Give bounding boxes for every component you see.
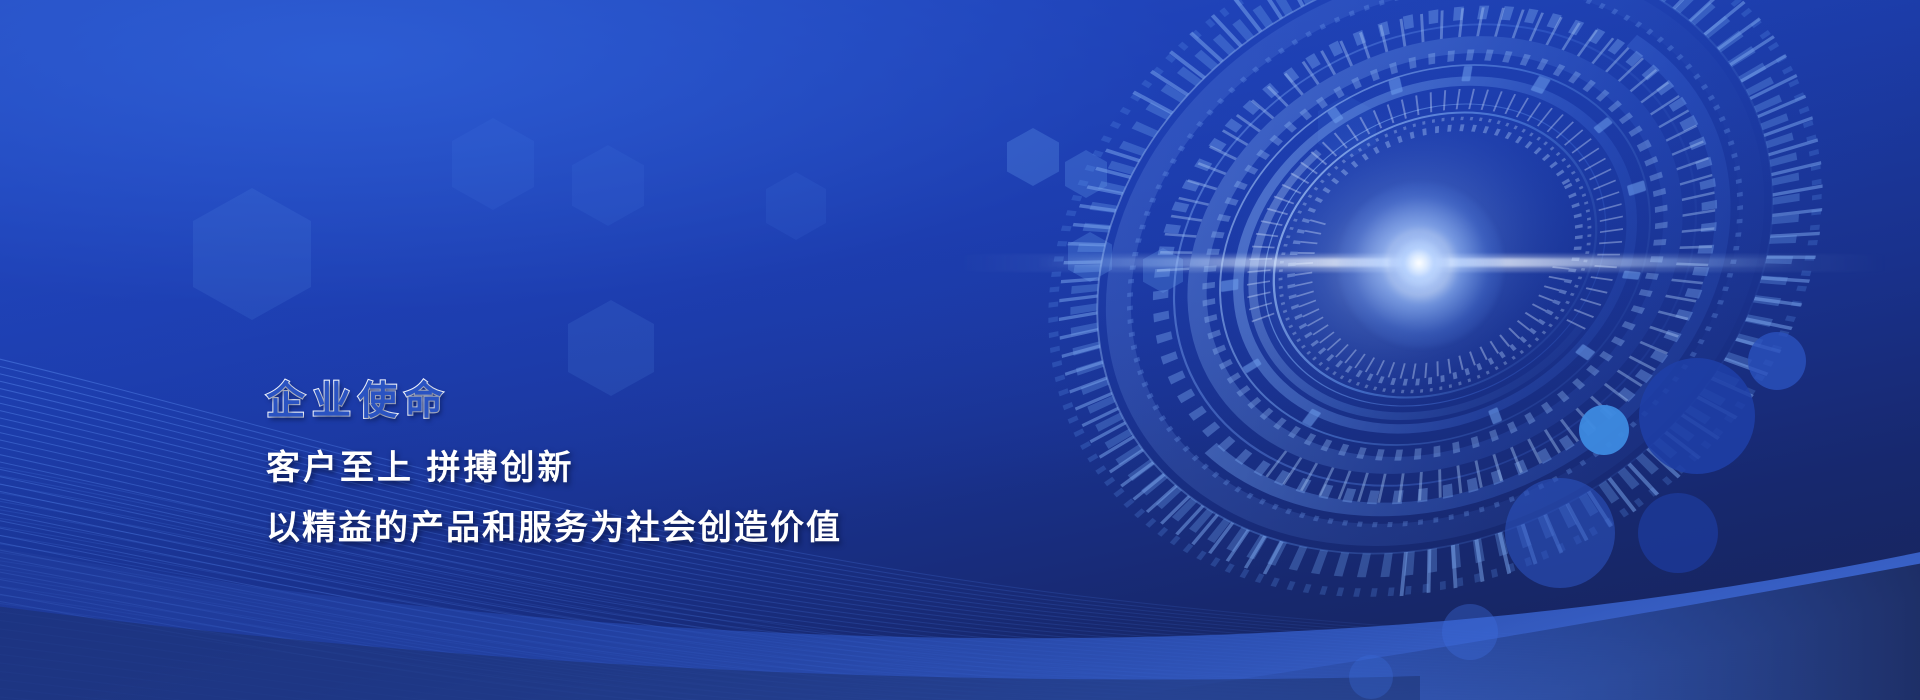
hexagon-shape [1065,150,1107,198]
decorative-dot [1639,358,1755,474]
mission-slogan-line-1: 客户至上 拼搏创新 [266,451,842,485]
mission-slogan-line-2: 以精益的产品和服务为社会创造价值 [266,511,842,545]
hexagon-shape [766,172,826,240]
decorative-dot [1748,332,1806,390]
flare-streak [1038,258,1798,267]
hexagon-shape [193,188,311,320]
flare-core-inner [1388,232,1450,294]
decorative-dot [1349,655,1393,699]
hexagon-shape [1143,248,1183,293]
bottom-wave-band [0,0,1920,700]
hexagon-shape [572,145,644,226]
hexagon-cluster [0,0,1920,700]
hexagon-shape [452,118,534,210]
decorative-dot [1638,493,1718,573]
flare-streak-wide [950,254,1890,272]
mission-banner: 企业使命 客户至上 拼搏创新 以精益的产品和服务为社会创造价值 [0,0,1920,700]
tech-hud-ring-graphic [0,0,1920,700]
hexagon-shape [1068,232,1112,282]
hexagon-shape [1318,95,1376,160]
mission-text-block: 企业使命 客户至上 拼搏创新 以精益的产品和服务为社会创造价值 [266,382,842,545]
accent-dot [1579,405,1629,455]
page-title: 企业使命 [266,382,842,421]
dot-cluster [0,0,1920,700]
hexagon-shape [1007,128,1059,186]
wave-lines-graphic [0,0,1920,700]
lens-flare-graphic [0,0,1920,700]
decorative-dot [1442,604,1498,660]
decorative-dot [1505,478,1615,588]
flare-core [1338,182,1504,348]
